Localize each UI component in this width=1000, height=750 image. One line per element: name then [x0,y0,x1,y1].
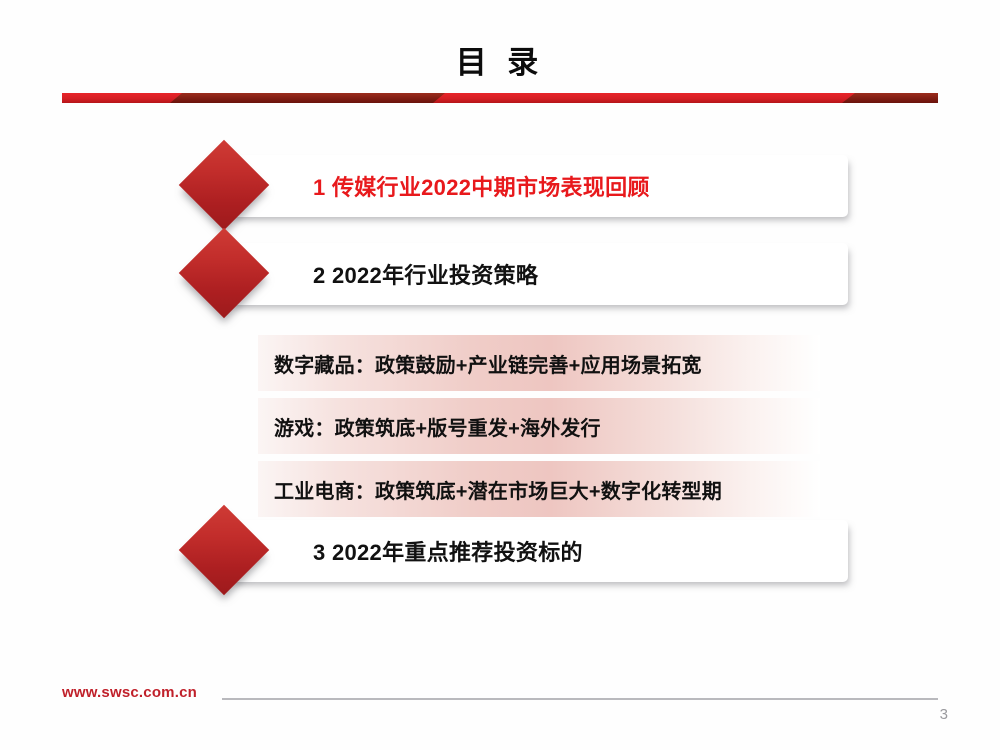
title-divider-rule [62,93,938,103]
diamond-marker-icon [179,228,270,319]
toc-item-2-label: 2 2022年行业投资策略 [313,243,538,305]
footer-website-url[interactable]: www.swsc.com.cn [62,684,197,701]
diamond-marker-icon [179,140,270,231]
divider-dark-segment-right [842,93,938,103]
divider-dark-segment-left [170,93,445,103]
toc-item-1-label: 1 传媒行业2022中期市场表现回顾 [313,155,650,217]
toc-sub-item-1[interactable]: 数字藏品：政策鼓励+产业链完善+应用场景拓宽 [258,335,820,391]
toc-sub-item-3[interactable]: 工业电商：政策筑底+潜在市场巨大+数字化转型期 [258,461,820,517]
slide-canvas: 目 录 1 传媒行业2022中期市场表现回顾 2 2022年行业投资策略 数字藏… [0,0,1000,750]
toc-sub-item-2[interactable]: 游戏：政策筑底+版号重发+海外发行 [258,398,820,454]
toc-sub-item-2-label: 游戏：政策筑底+版号重发+海外发行 [274,398,601,454]
diamond-marker-icon [179,505,270,596]
toc-item-3[interactable]: 3 2022年重点推荐投资标的 [228,520,848,582]
toc-sub-item-3-label: 工业电商：政策筑底+潜在市场巨大+数字化转型期 [274,461,722,517]
page-number: 3 [940,706,948,723]
toc-sub-item-1-label: 数字藏品：政策鼓励+产业链完善+应用场景拓宽 [274,335,702,391]
toc-item-3-label: 3 2022年重点推荐投资标的 [313,520,583,582]
toc-item-2[interactable]: 2 2022年行业投资策略 [228,243,848,305]
toc-item-1[interactable]: 1 传媒行业2022中期市场表现回顾 [228,155,848,217]
page-title: 目 录 [0,46,1000,80]
footer-divider-line [222,698,938,700]
